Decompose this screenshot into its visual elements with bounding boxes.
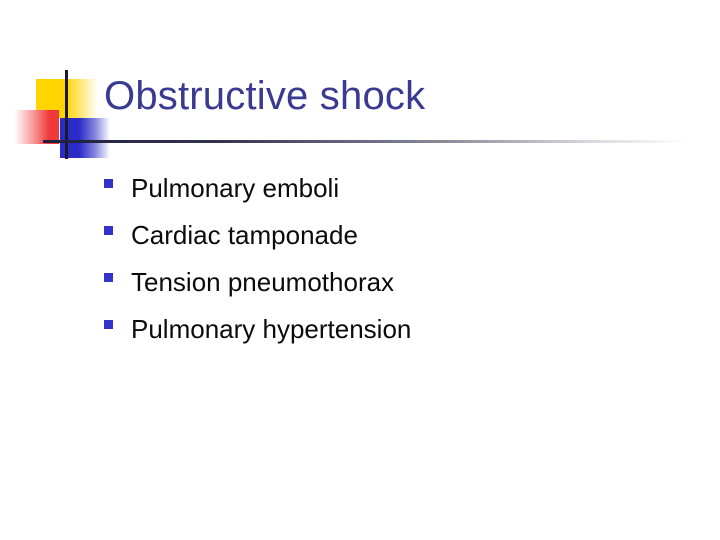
list-item-label: Pulmonary hypertension xyxy=(131,314,411,344)
decorative-red-square-icon xyxy=(14,110,59,144)
square-bullet-icon xyxy=(104,179,113,188)
list-item: Tension pneumothorax xyxy=(104,258,664,305)
square-bullet-icon xyxy=(104,273,113,282)
decorative-blue-square-icon xyxy=(60,118,110,158)
square-bullet-icon xyxy=(104,320,113,329)
decorative-yellow-square-icon xyxy=(36,79,98,118)
slide-canvas: Obstructive shock Pulmonary emboli Cardi… xyxy=(0,0,720,540)
square-bullet-icon xyxy=(104,226,113,235)
slide-title: Obstructive shock xyxy=(104,72,425,120)
list-item: Pulmonary hypertension xyxy=(104,305,664,352)
list-item: Cardiac tamponade xyxy=(104,211,664,258)
list-item-label: Pulmonary emboli xyxy=(131,173,339,203)
decorative-vertical-rule xyxy=(65,70,68,159)
bullet-list: Pulmonary emboli Cardiac tamponade Tensi… xyxy=(104,164,664,352)
title-divider-rule xyxy=(43,140,688,143)
list-item-label: Tension pneumothorax xyxy=(131,267,394,297)
list-item-label: Cardiac tamponade xyxy=(131,220,358,250)
list-item: Pulmonary emboli xyxy=(104,164,664,211)
